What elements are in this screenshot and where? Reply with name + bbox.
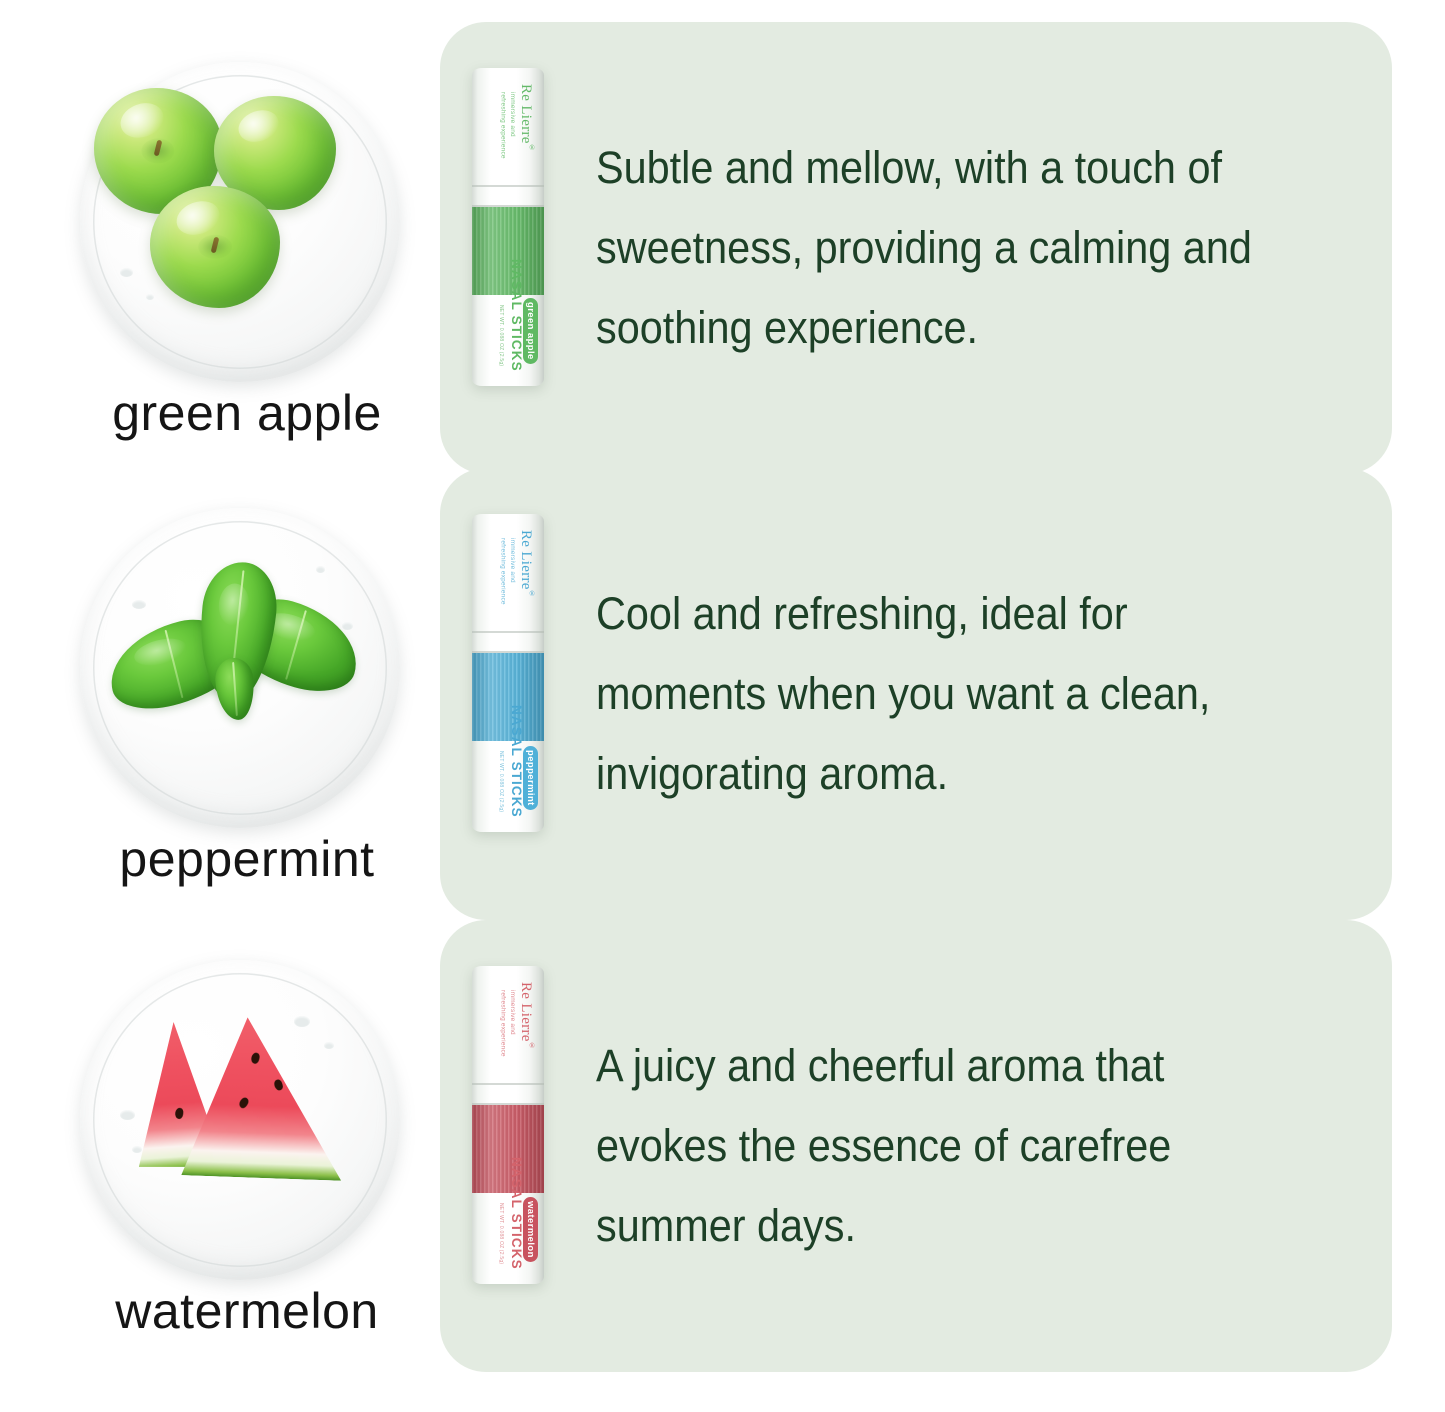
scent-description-text: A juicy and cheerful aroma that evokes t… (596, 1026, 1280, 1266)
scent-description-text: Cool and refreshing, ideal for moments w… (596, 574, 1280, 814)
flavor-badge: peppermint (523, 746, 539, 810)
net-weight-label: NET WT. 0.088 OZ (2.5g) (498, 751, 504, 812)
scent-row-peppermint: peppermint Re Lierre® immersive and refr… (0, 468, 1445, 920)
scent-description-watermelon: A juicy and cheerful aroma that evokes t… (596, 1026, 1340, 1266)
color-band (472, 1105, 544, 1193)
color-band (472, 653, 544, 741)
water-droplet (132, 600, 146, 609)
leaf-highlight (132, 634, 189, 670)
water-droplet (120, 1110, 135, 1120)
fruit-image-column-peppermint: peppermint (62, 468, 432, 920)
apple-fruit (150, 186, 280, 308)
scent-card-watermelon: Re Lierre® immersive and refreshing expe… (440, 920, 1392, 1372)
scent-description-green-apple: Subtle and mellow, with a touch of sweet… (596, 128, 1340, 368)
water-droplet (342, 622, 353, 630)
net-weight-label: NET WT. 0.088 OZ (2.5g) (498, 1203, 504, 1264)
water-droplet (132, 1146, 142, 1153)
brand-logo: Re Lierre® (517, 982, 536, 1050)
fruit-label-watermelon: watermelon (62, 1282, 432, 1340)
nasal-stick-peppermint: Re Lierre® immersive and refreshing expe… (472, 514, 544, 832)
product-tagline: immersive and refreshing experience (471, 990, 517, 1057)
scent-row-watermelon: watermelon Re Lierre® immersive and refr… (0, 920, 1445, 1372)
nasal-stick-watermelon: Re Lierre® immersive and refreshing expe… (472, 966, 544, 1284)
scent-card-green-apple: Re Lierre® immersive and refreshing expe… (440, 22, 1392, 474)
fruit-label-green-apple: green apple (62, 384, 432, 442)
product-type-label: NASAL STICKS (509, 259, 524, 372)
scent-description-text: Subtle and mellow, with a touch of sweet… (596, 128, 1280, 368)
scent-row-green-apple: green apple Re Lierre® immersive and ref… (0, 22, 1445, 474)
flavor-badge: watermelon (523, 1197, 539, 1262)
scent-card-peppermint: Re Lierre® immersive and refreshing expe… (440, 468, 1392, 920)
cap-seam (472, 1083, 544, 1085)
water-droplet (316, 566, 325, 573)
water-droplet (120, 268, 133, 277)
color-band (472, 207, 544, 295)
flavor-badge: green apple (523, 298, 539, 364)
water-droplet (294, 1016, 310, 1027)
brand-logo: Re Lierre® (517, 530, 536, 598)
fruit-image-column-watermelon: watermelon (62, 920, 432, 1372)
scent-guide-infographic: green apple Re Lierre® immersive and ref… (0, 0, 1445, 1412)
peppermint-photo (80, 508, 400, 828)
product-tagline: immersive and refreshing experience (471, 92, 517, 159)
product-type-label: NASAL STICKS (509, 705, 524, 818)
water-droplet (146, 294, 154, 300)
cap-seam (472, 631, 544, 633)
fruit-label-peppermint: peppermint (62, 830, 432, 888)
product-type-label: NASAL STICKS (509, 1157, 524, 1270)
cap-seam (472, 185, 544, 187)
leaf-vein (232, 662, 238, 717)
product-tagline: immersive and refreshing experience (471, 538, 517, 605)
net-weight-label: NET WT. 0.088 OZ (2.5g) (498, 305, 504, 366)
green-apple-photo (80, 62, 400, 382)
brand-logo: Re Lierre® (517, 84, 536, 152)
fruit-image-column-green-apple: green apple (62, 22, 432, 474)
nasal-stick-green-apple: Re Lierre® immersive and refreshing expe… (472, 68, 544, 386)
scent-description-peppermint: Cool and refreshing, ideal for moments w… (596, 574, 1340, 814)
water-droplet (324, 1042, 334, 1049)
watermelon-photo (80, 960, 400, 1280)
leaf-highlight (217, 582, 251, 627)
